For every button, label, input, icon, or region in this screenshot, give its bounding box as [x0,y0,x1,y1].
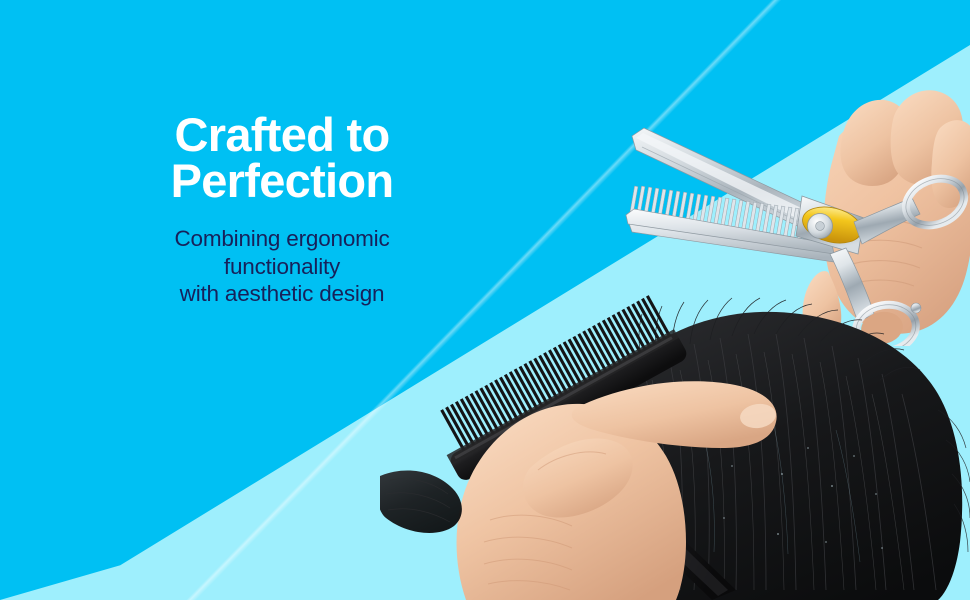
headline-line-2: Perfection [132,158,432,204]
comb-and-hair-image [380,290,970,600]
subheadline: Combining ergonomic functionality with a… [132,225,432,307]
screw-center [816,222,825,231]
comb-illustration [380,290,970,600]
headline: Crafted to Perfection [132,112,432,203]
subheadline-line-3: with aesthetic design [132,280,432,307]
subheadline-line-2: functionality [132,253,432,280]
hair-tuft-left [380,471,462,533]
promo-banner: Crafted to Perfection Combining ergonomi… [0,0,970,600]
copy-block: Crafted to Perfection Combining ergonomi… [132,112,432,307]
subheadline-line-1: Combining ergonomic [132,225,432,252]
